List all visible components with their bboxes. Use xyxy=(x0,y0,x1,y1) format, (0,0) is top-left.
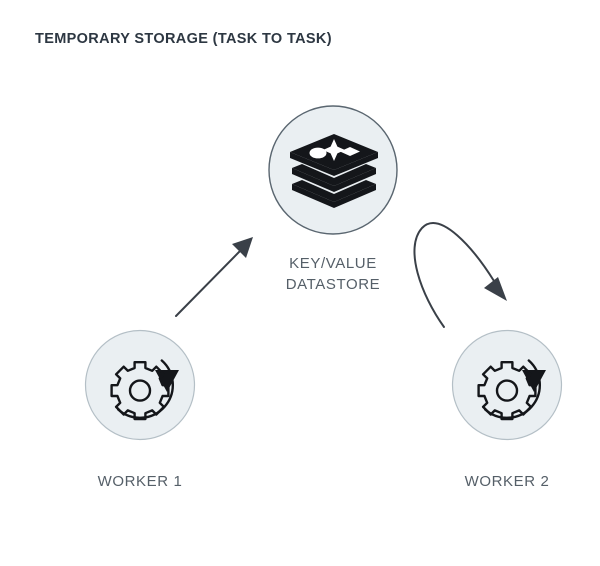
node-worker2[interactable] xyxy=(453,331,562,440)
worker2-circle[interactable] xyxy=(453,331,562,440)
datastore-label: KEY/VALUE DATASTORE xyxy=(233,253,433,296)
worker1-circle[interactable] xyxy=(86,331,195,440)
worker1-label: WORKER 1 xyxy=(40,471,240,492)
worker2-label: WORKER 2 xyxy=(407,471,600,492)
node-worker1[interactable] xyxy=(86,331,195,440)
node-datastore[interactable] xyxy=(269,106,397,234)
